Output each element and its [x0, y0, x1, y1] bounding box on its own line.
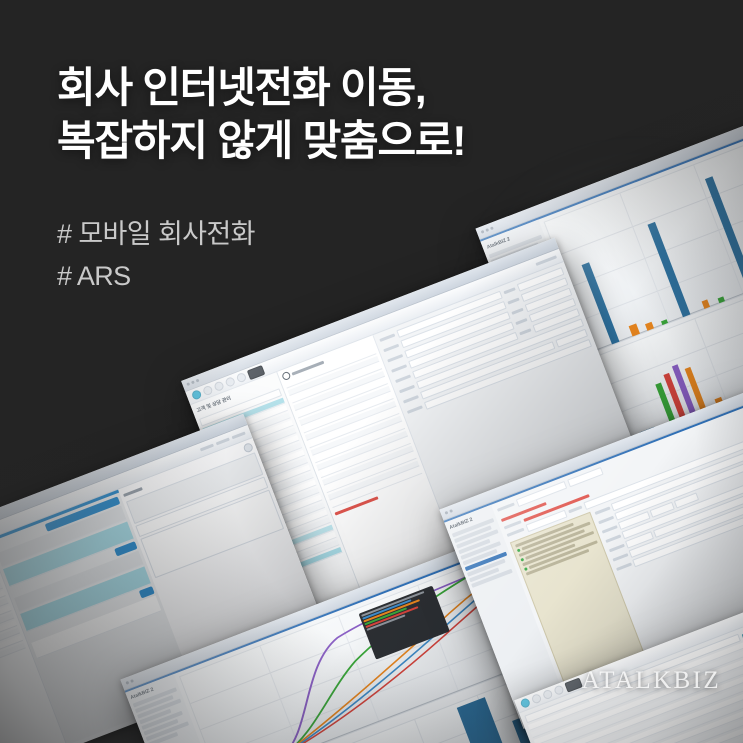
status-dot [524, 567, 528, 571]
window-dot-min[interactable] [130, 679, 134, 683]
history-icon[interactable] [542, 689, 554, 701]
contacts-icon[interactable] [531, 693, 543, 705]
window-dot-max[interactable] [490, 226, 494, 230]
status-dot [520, 558, 524, 562]
contacts-icon[interactable] [202, 385, 214, 397]
brand-watermark: ATALKBIZ [582, 667, 721, 695]
promo-canvas: AtalkBIZ 2 [0, 0, 743, 743]
phone-icon[interactable] [191, 389, 203, 401]
headline-line-2: 복잡하지 않게 맞춤으로! [57, 115, 465, 168]
history-icon[interactable] [213, 380, 225, 392]
window-dot-min[interactable] [449, 509, 453, 513]
menu-label [232, 431, 246, 439]
hashtag-list: # 모바일 회사전화 # ARS [57, 214, 465, 298]
menu-label [200, 444, 214, 452]
bar [705, 176, 743, 292]
bar [457, 697, 516, 743]
headline-line-1: 회사 인터넷전화 이동, [57, 64, 425, 111]
window-dot-min[interactable] [485, 228, 489, 232]
status-dot [517, 548, 521, 552]
search-icon [281, 371, 291, 381]
hashtag-item: # 모바일 회사전화 [57, 214, 465, 256]
copy-block: 회사 인터넷전화 이동,복잡하지 않게 맞춤으로! # 모바일 회사전화 # A… [57, 62, 465, 298]
bar [717, 296, 725, 303]
menu-label [216, 438, 230, 446]
window-dot-close[interactable] [445, 511, 449, 515]
window-dot-close[interactable] [186, 382, 190, 386]
message-icon[interactable] [553, 684, 565, 696]
hashtag-item: # ARS [57, 256, 465, 298]
window-dot-close[interactable] [125, 681, 129, 685]
window-dot-min[interactable] [191, 380, 195, 384]
window-dot-max[interactable] [196, 379, 200, 383]
page-title: 회사 인터넷전화 이동,복잡하지 않게 맞춤으로! [57, 62, 465, 168]
window-dot-close[interactable] [481, 230, 485, 234]
toolbar-label [535, 255, 557, 266]
bar [629, 324, 640, 337]
bar [645, 322, 653, 331]
message-icon[interactable] [224, 376, 236, 388]
bar [648, 222, 691, 318]
phone-icon[interactable] [520, 697, 532, 709]
bar [661, 319, 668, 325]
settings-icon[interactable] [236, 372, 248, 384]
